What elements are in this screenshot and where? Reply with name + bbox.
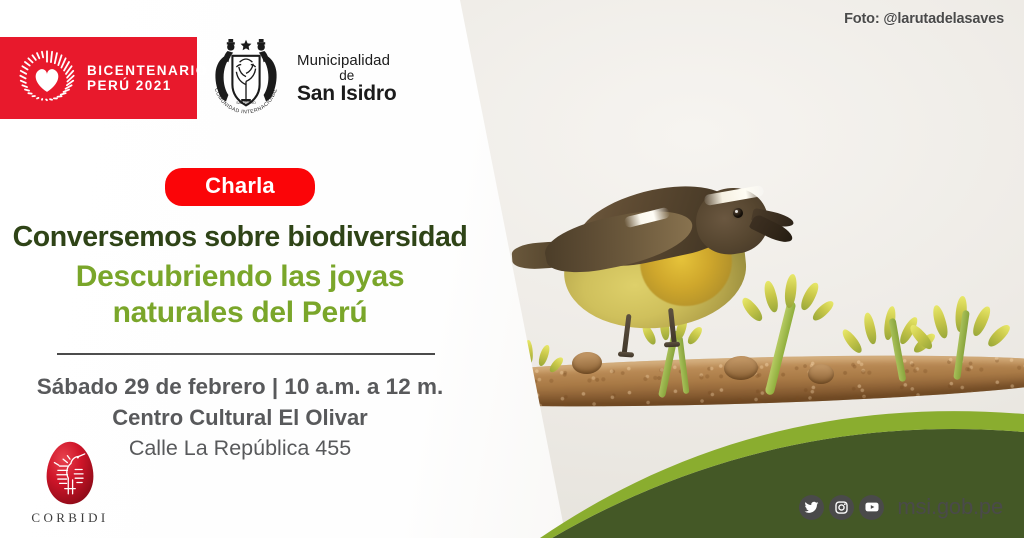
divider-rule <box>57 353 435 355</box>
event-title-primary: Conversemos sobre biodiversidad <box>0 221 480 255</box>
svg-text:SAN ISIDRO: SAN ISIDRO <box>236 101 256 105</box>
event-poster: Foto: @larutadelasaves <box>0 0 1024 538</box>
poster-content: Charla Conversemos sobre biodiversidad D… <box>0 168 480 462</box>
twitter-icon[interactable] <box>799 495 824 520</box>
corbidi-egg-bird-icon <box>44 440 96 506</box>
event-venue: Centro Cultural El Olivar <box>0 404 480 432</box>
event-title-secondary-line2: naturales del Perú <box>0 295 480 331</box>
municipality-line2: de <box>297 69 397 83</box>
municipality-line1: Municipalidad <box>297 53 397 69</box>
instagram-icon[interactable] <box>829 495 854 520</box>
san-isidro-wordmark: Municipalidad de San Isidro <box>297 53 397 104</box>
event-title-secondary-line1: Descubriendo las joyas <box>0 259 480 295</box>
youtube-icon[interactable] <box>859 495 884 520</box>
bicentenario-wordmark: BICENTENARIO PERÚ 2021 <box>87 63 208 93</box>
san-isidro-logo: SAN ISIDRO COMUNIDAD INTERNACIONAL Munic… <box>206 33 397 125</box>
bird-eye <box>733 208 743 218</box>
bird-foot <box>664 342 680 348</box>
bicentenario-logo: BICENTENARIO PERÚ 2021 <box>0 37 197 119</box>
corbidi-logo: CORBIDI <box>22 440 118 526</box>
photo-credit: Foto: @larutadelasaves <box>844 11 1004 27</box>
social-bar: msi.gob.pe <box>799 494 1003 520</box>
event-type-badge: Charla <box>165 168 315 206</box>
bicentenario-line1: BICENTENARIO <box>87 63 208 78</box>
bananaquit-bird <box>520 166 790 351</box>
corbidi-wordmark: CORBIDI <box>22 510 118 526</box>
event-title-secondary: Descubriendo las joyas naturales del Per… <box>0 259 480 331</box>
branch-node <box>808 364 834 384</box>
bicentenario-line2: PERÚ 2021 <box>87 78 208 93</box>
website-url[interactable]: msi.gob.pe <box>897 494 1003 520</box>
event-date-time: Sábado 29 de febrero | 10 a.m. a 12 m. <box>0 373 480 402</box>
san-isidro-crest-icon: SAN ISIDRO COMUNIDAD INTERNACIONAL <box>206 35 286 123</box>
bird-foot <box>618 351 634 357</box>
municipality-line3: San Isidro <box>297 83 397 105</box>
bicentenario-sunburst-icon <box>18 49 76 107</box>
